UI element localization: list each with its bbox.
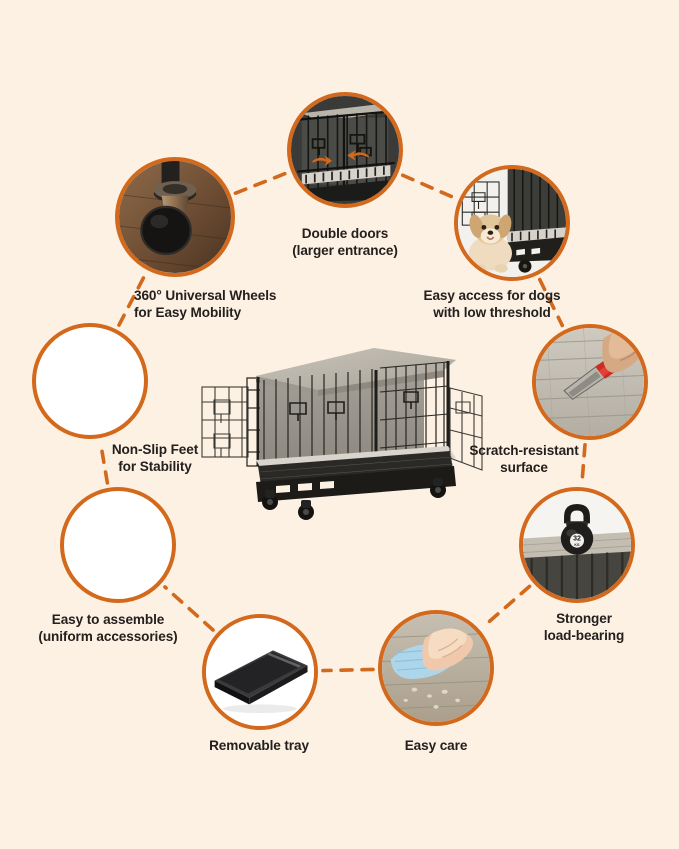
feature-bubble-easy-assemble[interactable]	[60, 487, 176, 603]
double-door-icon	[291, 96, 399, 204]
feature-label-double-doors: Double doors (larger entrance)	[292, 226, 398, 259]
feature-bubble-wheels[interactable]	[115, 157, 235, 277]
connector-load-bearing-to-easy-care	[483, 586, 529, 626]
svg-text:KG: KG	[574, 543, 579, 547]
feature-label-non-slip-feet: Non-Slip Feet for Stability	[112, 442, 198, 475]
connector-double-doors-to-low-threshold	[403, 175, 455, 198]
feature-diagram: 360° Universal Wheels for Easy Mobility	[0, 0, 679, 849]
cleaning-cloth-icon	[382, 614, 490, 722]
feature-bubble-load-bearing[interactable]: 32 KG	[519, 487, 635, 603]
caster-wheel-icon	[119, 161, 231, 273]
feature-bubble-non-slip-feet[interactable]	[32, 323, 148, 439]
feature-label-removable-tray: Removable tray	[209, 738, 309, 755]
feature-label-load-bearing: Stronger load-bearing	[544, 611, 624, 644]
feature-label-easy-assemble: Easy to assemble (uniform accessories)	[38, 612, 177, 645]
connector-easy-care-to-removable-tray	[323, 669, 373, 670]
connector-scratch-resistant-to-load-bearing	[582, 445, 585, 482]
svg-text:32: 32	[573, 536, 581, 543]
puppy-icon	[458, 169, 566, 277]
utility-knife-icon	[536, 328, 644, 436]
feature-label-scratch-resistant: Scratch-resistant surface	[469, 443, 578, 476]
product-image-dog-crate	[198, 330, 488, 530]
tray-icon	[206, 618, 314, 726]
feature-label-wheels: 360° Universal Wheels for Easy Mobility	[134, 288, 276, 321]
feature-bubble-removable-tray[interactable]	[202, 614, 318, 730]
connector-easy-assemble-to-non-slip-feet	[101, 443, 108, 483]
feature-label-easy-care: Easy care	[405, 738, 468, 755]
feature-bubble-double-doors[interactable]	[287, 92, 403, 208]
feature-bubble-easy-care[interactable]	[378, 610, 494, 726]
feature-bubble-low-threshold[interactable]	[454, 165, 570, 281]
kettlebell-icon: 32 KG	[523, 491, 631, 599]
feature-bubble-scratch-resistant[interactable]	[532, 324, 648, 440]
connector-wheels-to-double-doors	[235, 173, 286, 193]
feature-label-low-threshold: Easy access for dogs with low threshold	[423, 288, 560, 321]
